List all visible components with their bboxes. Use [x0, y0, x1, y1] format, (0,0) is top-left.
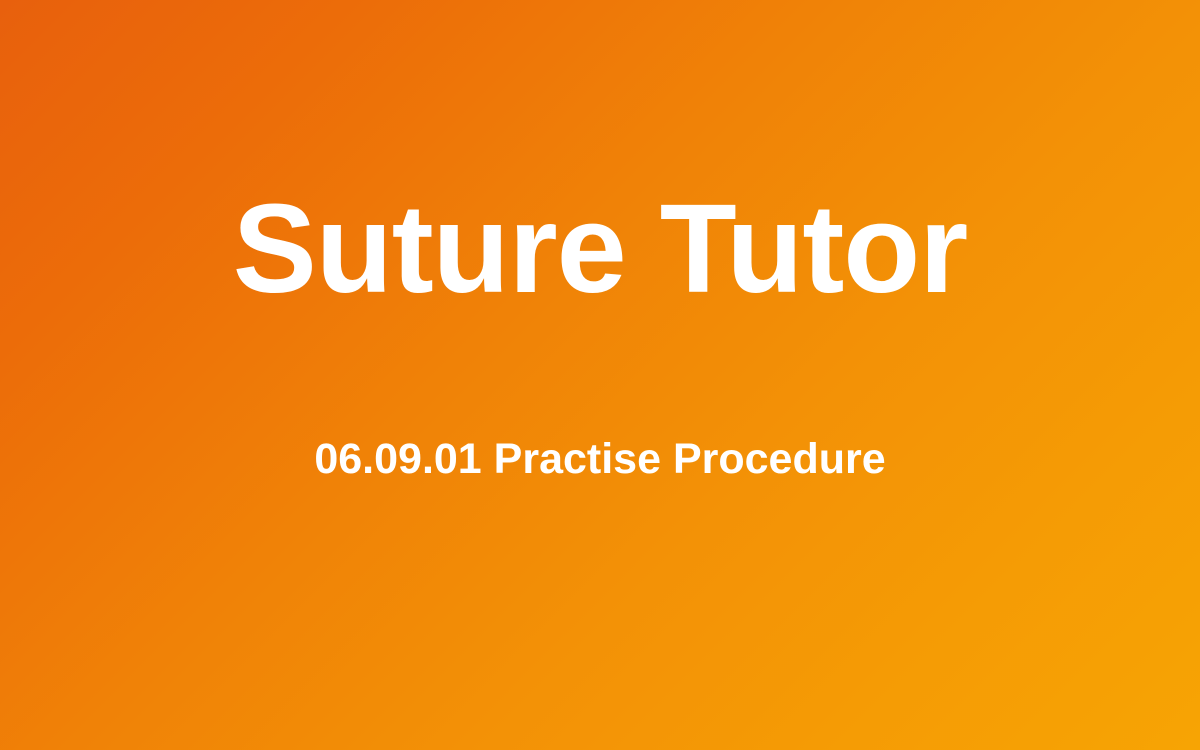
- title-block: Suture Tutor: [0, 186, 1200, 312]
- page-title: Suture Tutor: [0, 186, 1200, 312]
- subtitle-block: 06.09.01 Practise Procedure: [0, 438, 1200, 481]
- title-slide: Suture Tutor 06.09.01 Practise Procedure: [0, 0, 1200, 750]
- page-subtitle: 06.09.01 Practise Procedure: [0, 438, 1200, 481]
